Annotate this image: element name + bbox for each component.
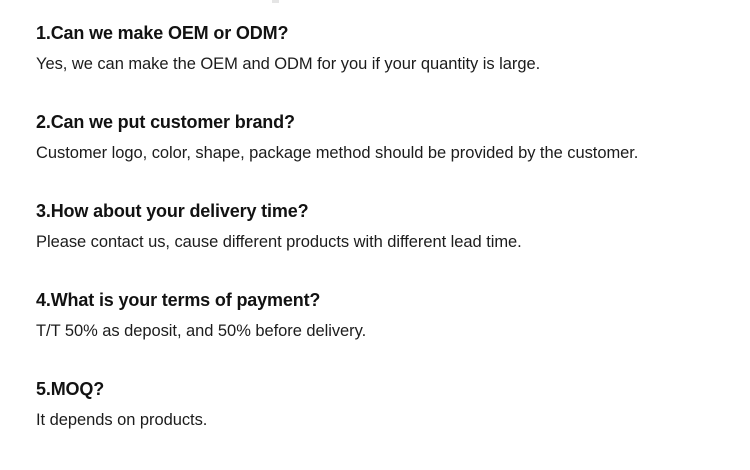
faq-answer: T/T 50% as deposit, and 50% before deliv…: [36, 321, 720, 342]
faq-list: 1.Can we make OEM or ODM? Yes, we can ma…: [36, 22, 720, 431]
faq-answer: Customer logo, color, shape, package met…: [36, 143, 720, 164]
faq-answer: It depends on products.: [36, 410, 720, 431]
faq-answer: Please contact us, cause different produ…: [36, 232, 720, 253]
faq-question: 5.MOQ?: [36, 378, 720, 400]
faq-item: 5.MOQ? It depends on products.: [36, 378, 720, 431]
faq-question: 3.How about your delivery time?: [36, 200, 720, 222]
faq-question: 1.Can we make OEM or ODM?: [36, 22, 720, 44]
faq-item: 2.Can we put customer brand? Customer lo…: [36, 111, 720, 164]
faq-item: 4.What is your terms of payment? T/T 50%…: [36, 289, 720, 342]
faq-page: 1.Can we make OEM or ODM? Yes, we can ma…: [0, 0, 750, 470]
faq-question: 4.What is your terms of payment?: [36, 289, 720, 311]
faq-item: 1.Can we make OEM or ODM? Yes, we can ma…: [36, 22, 720, 75]
faq-question: 2.Can we put customer brand?: [36, 111, 720, 133]
top-edge-artifact: [272, 0, 279, 3]
faq-answer: Yes, we can make the OEM and ODM for you…: [36, 54, 720, 75]
faq-item: 3.How about your delivery time? Please c…: [36, 200, 720, 253]
